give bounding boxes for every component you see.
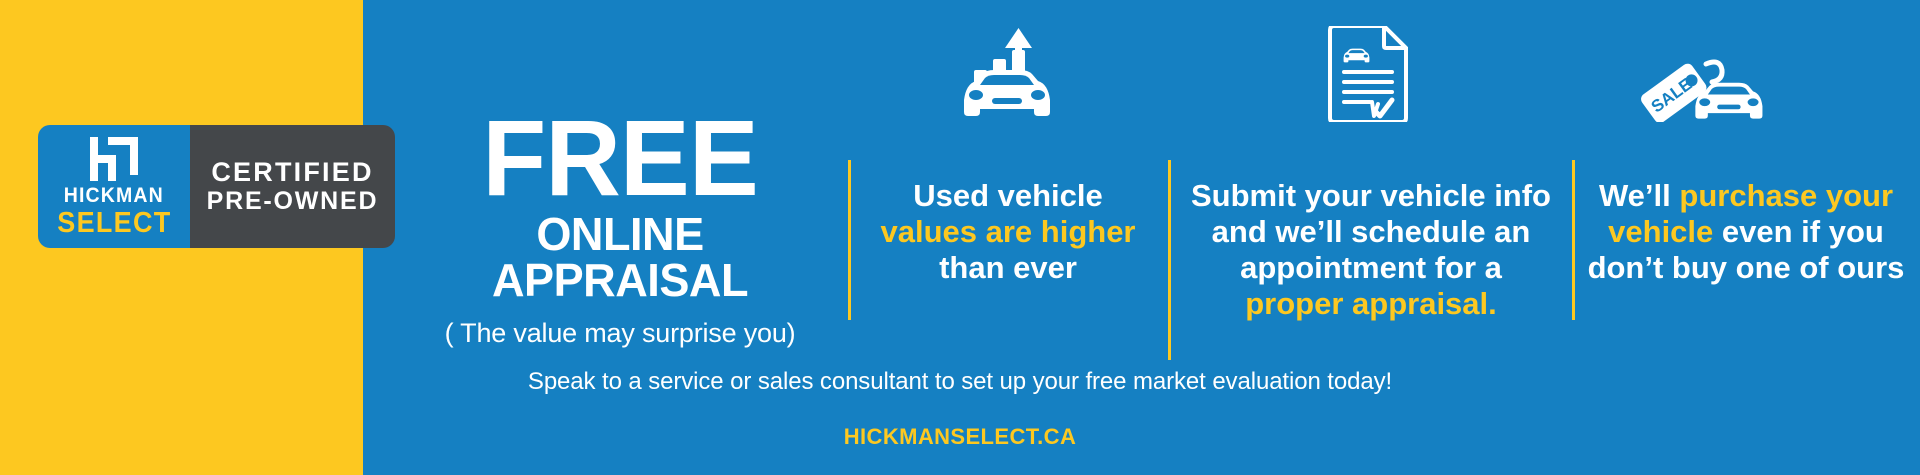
column3-line2-highlight: vehicle [1608, 214, 1713, 249]
pre-owned-label: PRE-OWNED [207, 188, 379, 215]
headline-online-appraisal: ONLINE APPRAISAL [404, 211, 835, 303]
feature-column-used-vehicle-values: Used vehicle values are higher than ever [852, 178, 1164, 286]
column3-line1-pre: We’ll [1599, 178, 1679, 213]
footer-website-url[interactable]: HICKMANSELECT.CA [0, 424, 1920, 450]
headline-block: FREE ONLINE APPRAISAL ( The value may su… [400, 112, 840, 349]
column1-line2-highlight: values are higher [852, 214, 1164, 250]
column-divider-3 [1572, 160, 1575, 320]
promo-banner: HICKMAN SELECT CERTIFIED PRE-OWNED FREE … [0, 0, 1920, 475]
feature-column-well-purchase-vehicle: We’ll purchase your vehicle even if you … [1578, 178, 1914, 286]
feature-column-submit-vehicle-info: Submit your vehicle info and we’ll sched… [1176, 178, 1566, 322]
column1-line1: Used vehicle [852, 178, 1164, 214]
column1-line3: than ever [852, 250, 1164, 286]
column-divider-1 [848, 160, 851, 320]
vehicle-info-document-icon [1322, 26, 1414, 122]
column3-line1: We’ll purchase your [1578, 178, 1914, 214]
logo-wordmark-select: SELECT [57, 208, 171, 238]
headline-free: FREE [407, 112, 834, 205]
logo-wordmark-hickman: HICKMAN [64, 185, 164, 206]
column2-line2: and we’ll schedule an [1176, 214, 1566, 250]
hickman-select-certified-pre-owned-badge: HICKMAN SELECT CERTIFIED PRE-OWNED [38, 125, 395, 248]
column3-line2: vehicle even if you [1578, 214, 1914, 250]
column3-line3: don’t buy one of ours [1578, 250, 1914, 286]
hickman-h-monogram-icon [88, 137, 140, 181]
footer-cta-text: Speak to a service or sales consultant t… [0, 368, 1920, 396]
car-growth-chart-icon [952, 28, 1062, 118]
sale-tag-car-icon: SALE [1640, 44, 1780, 122]
headline-note: ( The value may surprise you) [400, 319, 840, 349]
column2-line3: appointment for a [1176, 250, 1566, 286]
column3-line1-highlight: purchase your [1679, 178, 1893, 213]
column2-line4-highlight: proper appraisal. [1176, 286, 1566, 322]
badge-certified-section: CERTIFIED PRE-OWNED [190, 125, 395, 248]
certified-label: CERTIFIED [211, 158, 373, 187]
column3-line2-post: even if you [1713, 214, 1884, 249]
column2-line1: Submit your vehicle info [1176, 178, 1566, 214]
badge-brand-section: HICKMAN SELECT [38, 125, 190, 248]
column-divider-2 [1168, 160, 1171, 360]
